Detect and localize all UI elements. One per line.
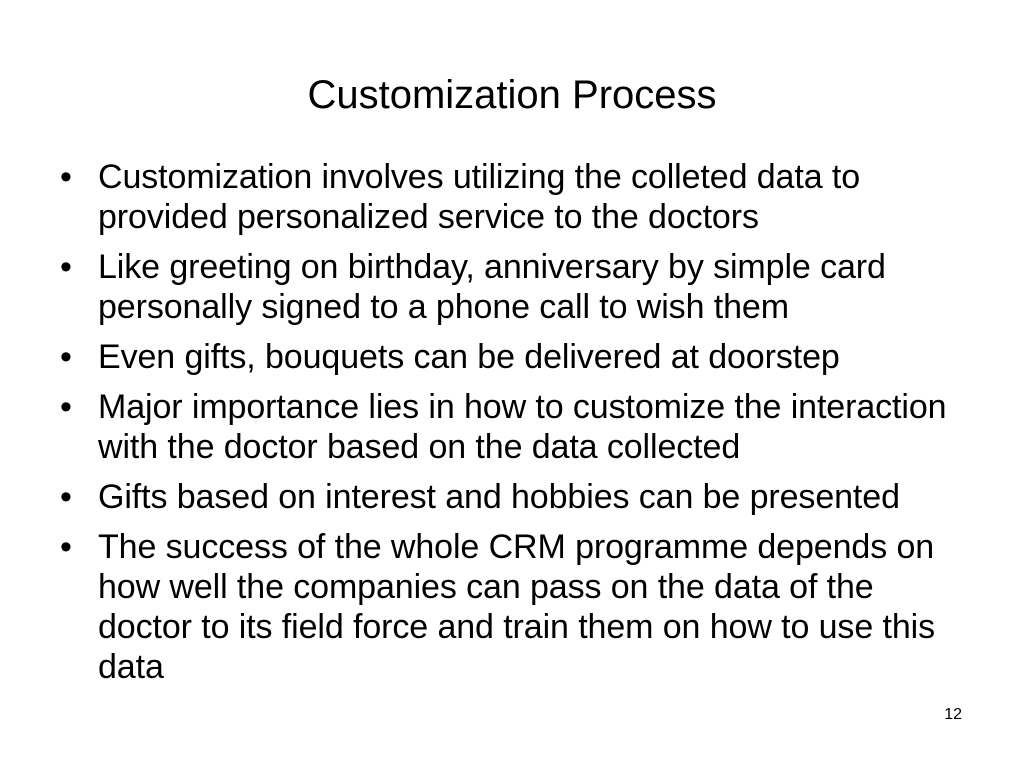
list-item: •Gifts based on interest and hobbies can… — [58, 477, 978, 517]
bullet-list: •Customization involves utilizing the co… — [58, 157, 978, 687]
list-item-line: provided personalized service to the doc… — [98, 197, 978, 237]
bullet-dot-icon: • — [58, 157, 98, 197]
list-item-line: Gifts based on interest and hobbies can … — [98, 477, 978, 517]
list-item: •Major importance lies in how to customi… — [58, 387, 978, 467]
list-item: •The success of the whole CRM programme … — [58, 527, 978, 687]
list-item-text: Major importance lies in how to customiz… — [98, 387, 978, 467]
page-number: 12 — [944, 705, 962, 725]
list-item-text: Like greeting on birthday, anniversary b… — [98, 247, 978, 327]
list-item: •Customization involves utilizing the co… — [58, 157, 978, 237]
list-item: •Like greeting on birthday, anniversary … — [58, 247, 978, 327]
list-item-line: Like greeting on birthday, anniversary b… — [98, 247, 978, 287]
list-item-line: The success of the whole CRM programme d… — [98, 527, 978, 567]
list-item-line: how well the companies can pass on the d… — [98, 567, 978, 607]
bullet-dot-icon: • — [58, 247, 98, 287]
page-title: Customization Process — [0, 71, 1024, 119]
list-item-text: The success of the whole CRM programme d… — [98, 527, 978, 687]
list-item-line: Customization involves utilizing the col… — [98, 157, 978, 197]
list-item-line: data — [98, 647, 978, 687]
list-item-line: with the doctor based on the data collec… — [98, 427, 978, 467]
list-item-line: Major importance lies in how to customiz… — [98, 387, 978, 427]
list-item-text: Gifts based on interest and hobbies can … — [98, 477, 978, 517]
list-item-line: doctor to its field force and train them… — [98, 607, 978, 647]
list-item-line: Even gifts, bouquets can be delivered at… — [98, 337, 978, 377]
list-item-text: Customization involves utilizing the col… — [98, 157, 978, 237]
bullet-dot-icon: • — [58, 527, 98, 567]
list-item-line: personally signed to a phone call to wis… — [98, 287, 978, 327]
list-item-text: Even gifts, bouquets can be delivered at… — [98, 337, 978, 377]
bullet-dot-icon: • — [58, 387, 98, 427]
list-item: •Even gifts, bouquets can be delivered a… — [58, 337, 978, 377]
bullet-dot-icon: • — [58, 477, 98, 517]
bullet-dot-icon: • — [58, 337, 98, 377]
presentation-slide: Customization Process •Customization inv… — [0, 0, 1024, 768]
